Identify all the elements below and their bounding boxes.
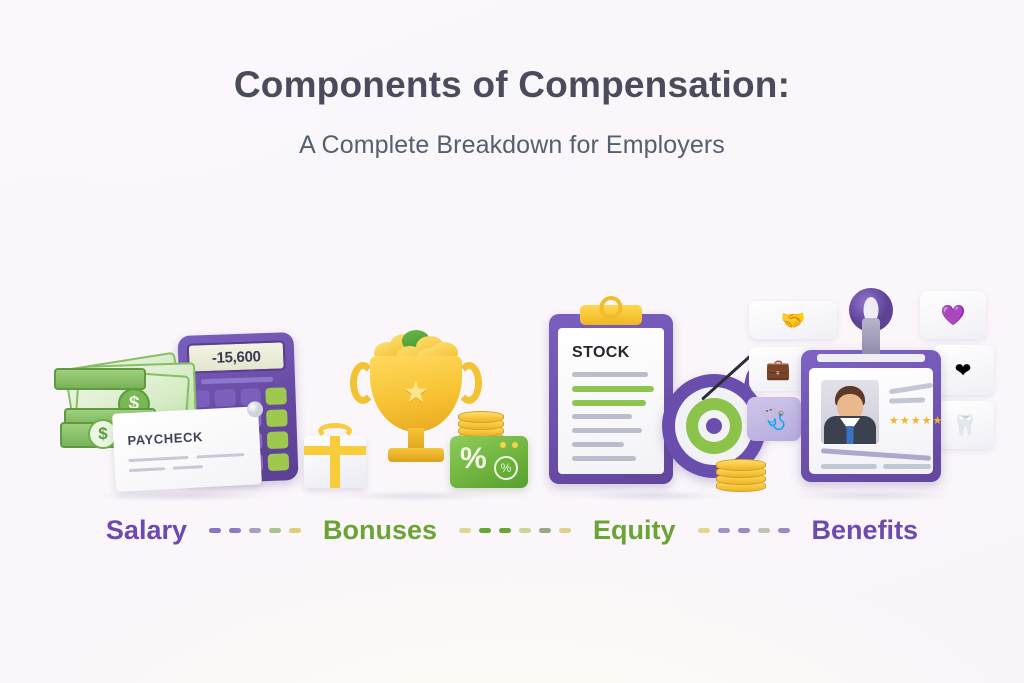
heart-icon: ❤ — [932, 345, 994, 395]
clipboard-page: STOCK — [558, 328, 664, 474]
connector-dot — [738, 528, 750, 533]
equity-illustration: STOCK — [535, 285, 770, 500]
illustration-row: -15,600 $ $ — [0, 285, 1024, 500]
component-label-row: Salary Bonuses Equity Benefits — [0, 508, 1024, 552]
connector-dot — [269, 528, 281, 533]
trophy-base — [388, 448, 444, 462]
connector-2 — [437, 528, 593, 533]
connector-dot — [778, 528, 790, 533]
clipboard-icon: STOCK — [549, 314, 673, 484]
connector-1 — [187, 528, 323, 533]
clipboard-clamp — [580, 305, 642, 325]
calculator-display-value: -15,600 — [212, 348, 261, 367]
connector-dot — [519, 528, 531, 533]
badge-clip — [862, 318, 880, 358]
salary-illustration: -15,600 $ $ — [48, 285, 320, 500]
connector-dot — [289, 528, 301, 533]
percent-symbol: % — [460, 444, 487, 474]
paycheck-document: PAYCHECK — [112, 406, 262, 492]
cash-bundle — [54, 368, 146, 390]
handshake-icon: 🤝 — [749, 301, 837, 339]
id-badge: ★★★★★ — [801, 350, 941, 482]
connector-dot — [758, 528, 770, 533]
benefits-illustration: 🤝 💼 🩺 💜 ❤ 🦷 ★★★★★ — [745, 285, 1000, 500]
connector-dot — [249, 528, 261, 533]
avatar — [821, 380, 879, 444]
connector-dot — [718, 528, 730, 533]
calculator-solar-strip — [201, 377, 273, 385]
star-icon: ★ — [403, 378, 430, 408]
paycheck-label: PAYCHECK — [127, 429, 203, 448]
label-benefits[interactable]: Benefits — [812, 515, 919, 546]
badge-face: ★★★★★ — [809, 368, 933, 474]
label-equity[interactable]: Equity — [593, 515, 676, 546]
gift-box-icon — [304, 436, 366, 488]
medical-kit-icon: 🩺 — [747, 397, 801, 441]
connector-dot — [698, 528, 710, 533]
group-shadow — [314, 488, 516, 504]
connector-3 — [676, 528, 812, 533]
bonuses-illustration: ★ % % — [300, 285, 530, 500]
badge-strip — [817, 354, 925, 362]
tooth-icon: 🦷 — [936, 401, 994, 449]
connector-dot — [559, 528, 571, 533]
page-subtitle: A Complete Breakdown for Employers — [0, 131, 1024, 160]
discount-card-icon: % % — [450, 436, 528, 488]
group-shadow — [64, 488, 303, 504]
stock-heading: STOCK — [572, 344, 630, 362]
rating-stars: ★★★★★ — [889, 414, 943, 427]
trophy-cup: ★ — [370, 356, 462, 432]
trophy-stem — [408, 428, 424, 450]
connector-dot — [229, 528, 241, 533]
connector-dot — [479, 528, 491, 533]
shield-heart-icon: 💜 — [920, 291, 986, 339]
label-bonuses[interactable]: Bonuses — [323, 515, 437, 546]
label-salary[interactable]: Salary — [106, 515, 187, 546]
briefcase-icon: 💼 — [749, 347, 807, 391]
connector-dot — [459, 528, 471, 533]
connector-dot — [499, 528, 511, 533]
page-title: Components of Compensation: — [0, 64, 1024, 106]
connector-dot — [209, 528, 221, 533]
percent-badge: % — [494, 456, 518, 480]
connector-dot — [539, 528, 551, 533]
poster-canvas: Components of Compensation: A Complete B… — [0, 0, 1024, 683]
